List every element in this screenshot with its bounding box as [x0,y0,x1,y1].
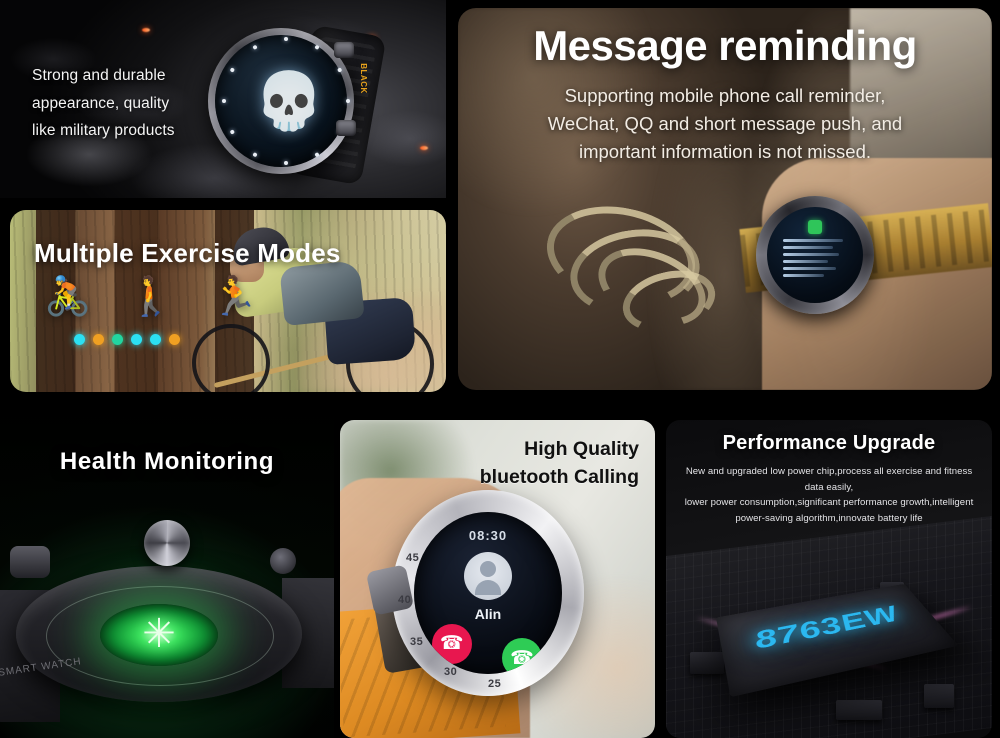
panel-message-reminding: Message reminding Supporting mobile phon… [458,8,992,390]
notification-text-lines [783,239,853,281]
notification-watch-image [756,196,874,314]
panel-exercise-modes: Multiple Exercise Modes 🚴 🚶 🏃 [10,210,446,392]
bezel-tick: 25 [488,678,501,690]
military-watch-image: 💀 BLACK [196,12,376,190]
exercise-mode-dots [74,334,180,345]
performance-subtitle-line-3: power-saving algorithm,innovate battery … [676,511,982,527]
climbing-rope [536,186,786,356]
calling-title-line-1: High Quality [480,436,639,464]
panel-health-monitoring: Health Monitoring SMART WATCH [0,402,334,738]
performance-subtitle-line-2: lower power consumption,significant perf… [676,495,982,511]
watch-crown-bottom [336,120,356,136]
watch-side-button-left [10,546,50,578]
message-title: Message reminding [458,22,992,70]
calling-title-line-2: bluetooth Calling [480,464,639,492]
rider-vest [279,260,365,326]
mode-dot [112,334,123,345]
smd-component [924,684,954,708]
walking-icon: 🚶 [127,278,174,316]
message-subtitle-line-1: Supporting mobile phone call reminder, [478,82,972,110]
durable-line-1: Strong and durable [32,62,175,90]
message-subtitle: Supporting mobile phone call reminder, W… [478,82,972,165]
mode-dot [93,334,104,345]
ember-spark-icon [420,146,428,150]
message-subtitle-line-2: WeChat, QQ and short message push, and [478,110,972,138]
watch-time: 08:30 [414,528,562,543]
health-title: Health Monitoring [0,448,334,476]
feature-collage: 💀 BLACK Strong and durable appearance, q… [0,0,1000,738]
bezel-tick: 45 [406,552,419,564]
running-icon: 🏃 [211,278,258,316]
bezel-tick: 40 [398,594,411,606]
performance-title: Performance Upgrade [666,432,992,455]
bezel-tick: 35 [410,636,423,648]
accept-phone-icon: ☎ [510,647,534,670]
performance-subtitle: New and upgraded low power chip,process … [676,464,982,526]
watch-brand-badge: BLACK [358,63,367,94]
panel-strong-durable: 💀 BLACK Strong and durable appearance, q… [0,0,446,198]
panel-performance-upgrade: 8763EW Performance Upgrade New and upgra… [666,420,992,738]
smd-component [690,652,724,674]
spo2-sensor-icon [100,604,218,666]
mode-dot [169,334,180,345]
performance-subtitle-line-1: New and upgraded low power chip,process … [676,464,982,495]
durable-line-3: like military products [32,117,175,145]
caller-avatar [464,552,512,600]
durable-line-2: appearance, quality [32,90,175,118]
watch-screen [767,207,863,303]
watch-crown [144,520,190,566]
watch-screen: 08:30 Alin ☎ ☎ [414,512,562,674]
exercise-icon-row: 🚴 🚶 🏃 [44,278,258,316]
mode-dot [150,334,161,345]
message-subtitle-line-3: important information is not missed. [478,138,972,166]
caller-name: Alin [414,606,562,622]
bike-wheel-rear [192,324,270,392]
bezel-tick: 30 [444,666,457,678]
mode-dot [131,334,142,345]
panel-bluetooth-calling: 45 40 35 30 25 08:30 Alin ☎ ☎ High Quali… [340,420,655,738]
calling-title: High Quality bluetooth Calling [480,436,639,491]
exercise-title: Multiple Exercise Modes [34,238,341,269]
watch-back-sensor-image: SMART WATCH [0,512,334,738]
calling-watch-image: 45 40 35 30 25 08:30 Alin ☎ ☎ [392,490,584,696]
watch-crown-top [334,42,354,58]
durable-copy-block: Strong and durable appearance, quality l… [32,62,175,145]
skull-dial-icon: 💀 [254,63,318,139]
mode-dot [74,334,85,345]
smd-component [836,700,882,720]
message-app-icon [808,220,822,234]
watch-side-button-right [270,548,296,574]
decline-phone-icon: ☎ [440,632,464,655]
ember-spark-icon [142,28,150,32]
exercise-bike-icon: 🚴 [44,278,91,316]
accept-call-button[interactable]: ☎ [502,638,542,674]
